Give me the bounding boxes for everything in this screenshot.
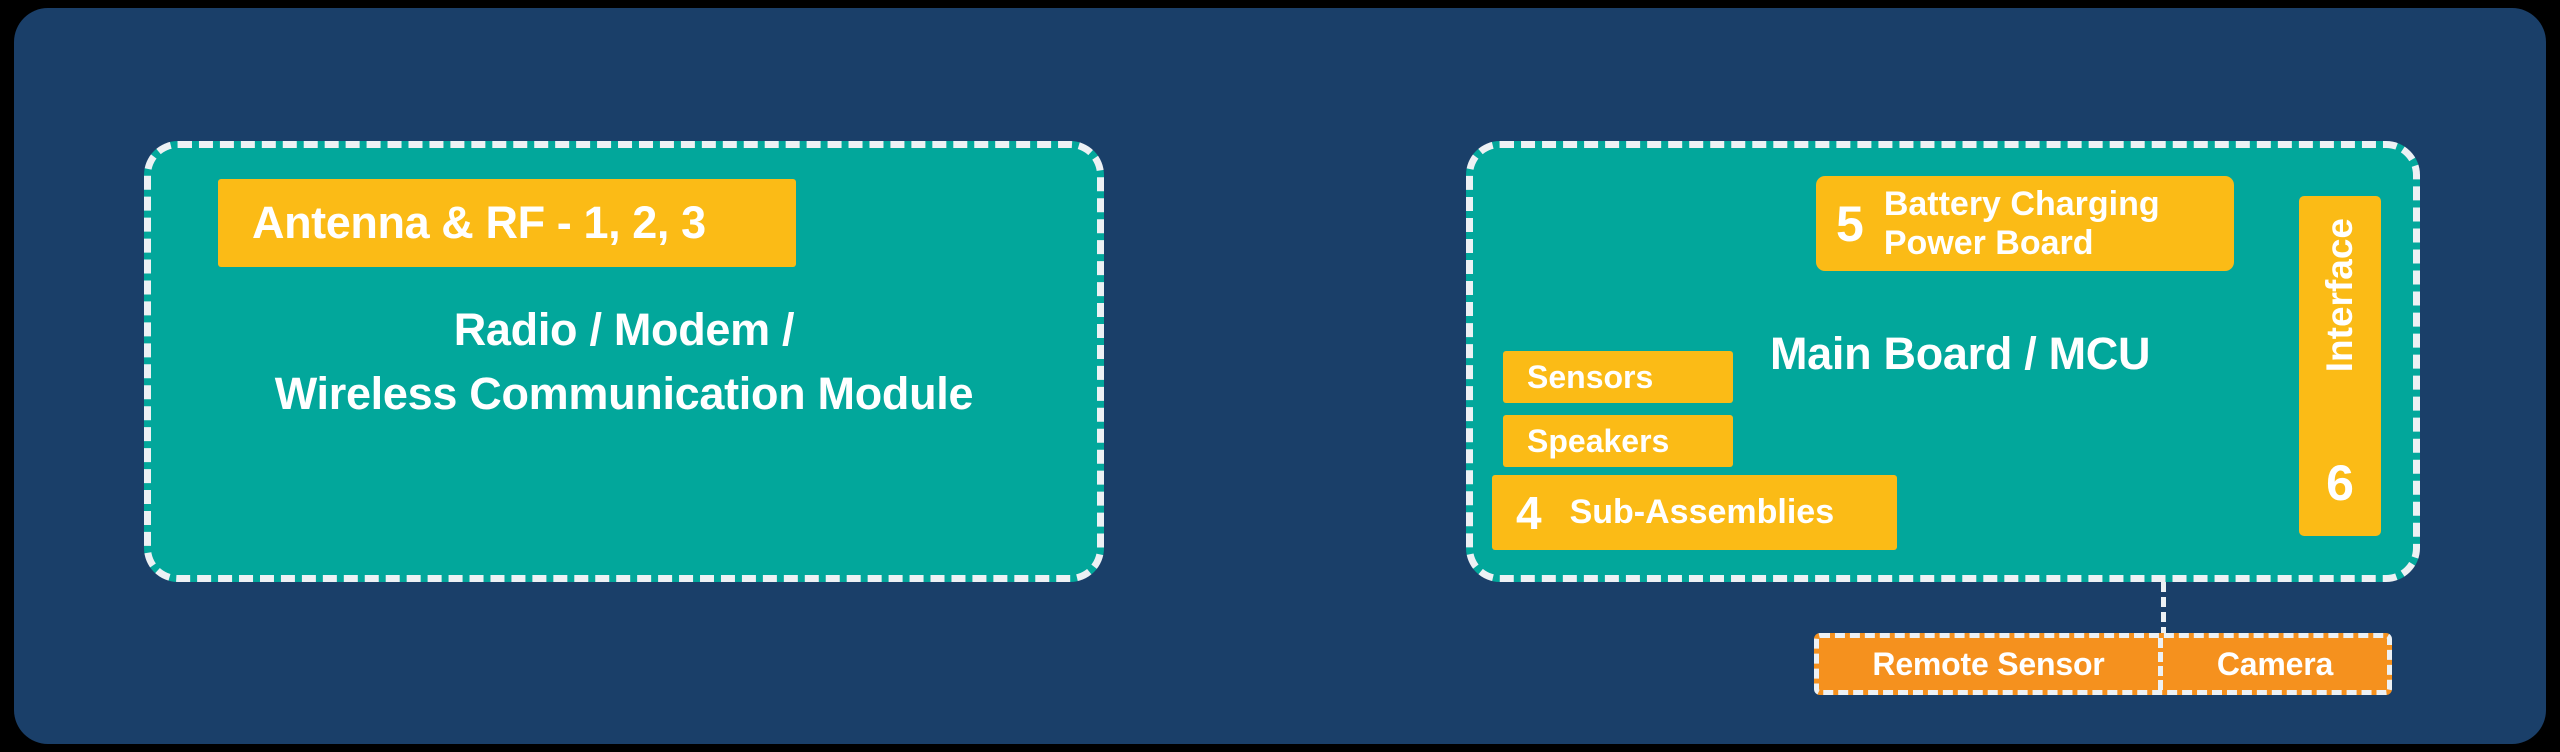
chip-sub-assemblies-label: Sub-Assemblies (1570, 493, 1835, 532)
module-radio-modem-label-line2: Wireless Communication Module (144, 362, 1104, 426)
accessory-remote-sensor-label: Remote Sensor (1872, 646, 2104, 683)
accessory-remote-sensor[interactable]: Remote Sensor (1819, 638, 2158, 690)
chip-antenna-rf-label: Antenna & RF - 1, 2, 3 (252, 197, 706, 249)
accessory-camera-label: Camera (2217, 646, 2333, 683)
chip-battery-label-line2: Power Board (1884, 224, 2094, 262)
chip-interface-label: Interface (2319, 218, 2361, 372)
chip-sub-assemblies-number: 4 (1516, 490, 1542, 536)
chip-speakers[interactable]: Speakers (1503, 415, 1733, 467)
accessory-group[interactable]: Remote Sensor Camera (1814, 633, 2392, 695)
diagram-canvas: Antenna & RF - 1, 2, 3 Radio / Modem / W… (0, 0, 2560, 752)
chip-interface[interactable]: Interface 6 (2299, 196, 2381, 536)
connector-line-main-board-to-accessories (2161, 582, 2166, 637)
chip-interface-number: 6 (2299, 458, 2381, 508)
chip-antenna-rf[interactable]: Antenna & RF - 1, 2, 3 (218, 179, 796, 267)
module-main-board-mcu-label: Main Board / MCU (1770, 328, 2150, 380)
accessory-camera[interactable]: Camera (2163, 638, 2387, 690)
chip-battery-label: Battery Charging Power Board (1884, 185, 2160, 263)
module-radio-modem-label-line1: Radio / Modem / (144, 298, 1104, 362)
chip-sensors-label: Sensors (1527, 359, 1653, 396)
chip-battery-number: 5 (1836, 199, 1864, 249)
chip-sub-assemblies[interactable]: 4 Sub-Assemblies (1492, 475, 1897, 550)
module-radio-modem-label: Radio / Modem / Wireless Communication M… (144, 298, 1104, 426)
diagram-board: Antenna & RF - 1, 2, 3 Radio / Modem / W… (14, 8, 2546, 744)
chip-speakers-label: Speakers (1527, 423, 1669, 460)
chip-battery-label-line1: Battery Charging (1884, 185, 2160, 223)
chip-battery-charging-power-board[interactable]: 5 Battery Charging Power Board (1816, 176, 2234, 271)
chip-sensors[interactable]: Sensors (1503, 351, 1733, 403)
